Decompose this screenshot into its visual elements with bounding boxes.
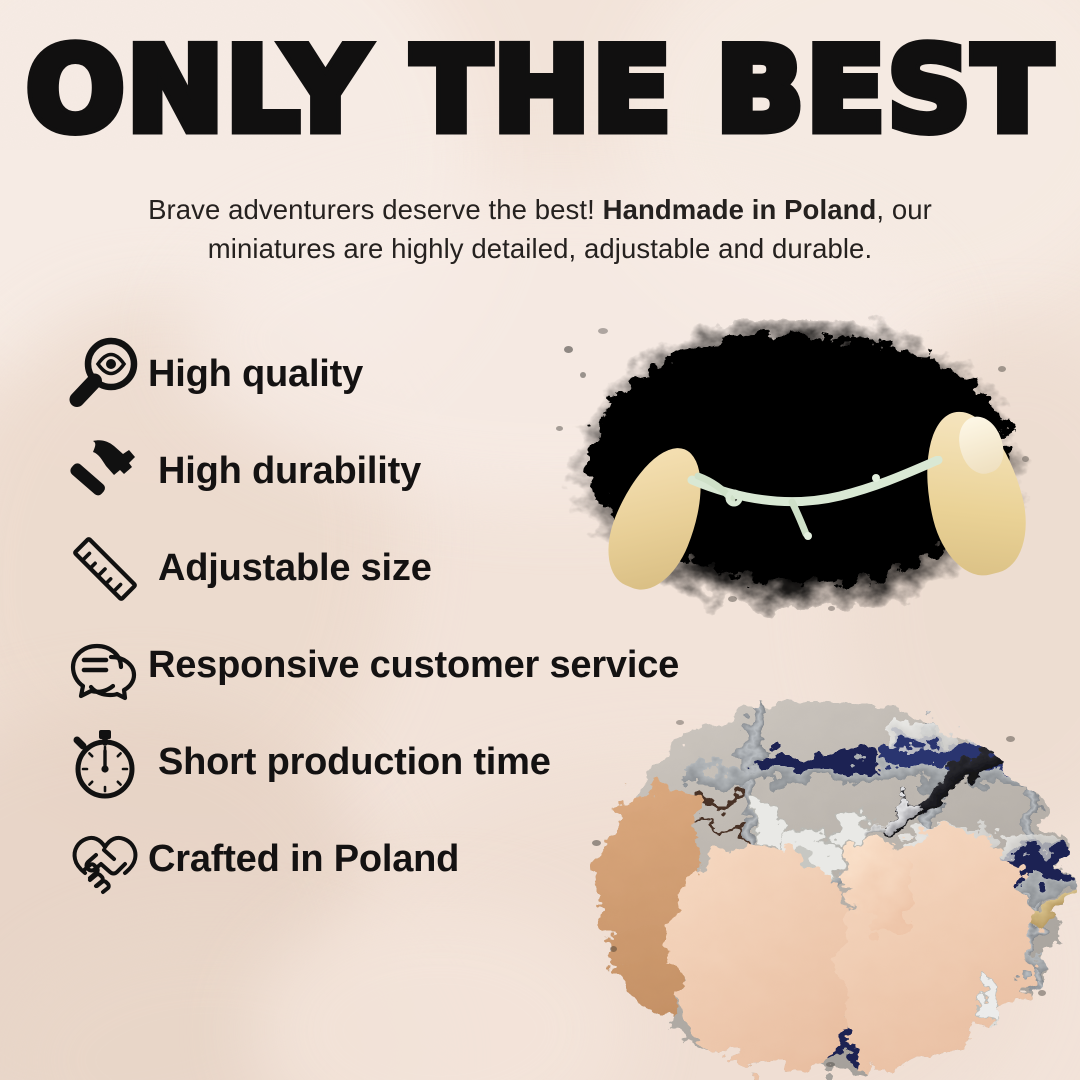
subtitle-lead: Brave adventurers deserve the best! xyxy=(148,194,603,225)
hammer-icon xyxy=(62,429,148,515)
handshake-heart-icon xyxy=(62,817,148,903)
flexible-part xyxy=(680,456,960,546)
feature-label: Responsive customer service xyxy=(148,644,679,687)
feature-label: High quality xyxy=(148,353,363,396)
feature-label: Adjustable size xyxy=(158,547,432,590)
promo-graphic: ONLY THE BEST Brave adventurers deserve … xyxy=(0,0,1080,1080)
flexible-miniature-photo xyxy=(528,306,1068,626)
page-title: ONLY THE BEST xyxy=(0,34,1080,148)
small-miniature xyxy=(972,980,1012,1036)
subtitle: Brave adventurers deserve the best! Hand… xyxy=(90,190,990,268)
magnifier-eye-icon xyxy=(62,332,148,418)
feature-label: Crafted in Poland xyxy=(148,838,459,881)
feature-label: Short production time xyxy=(158,741,551,784)
speech-bubbles-icon xyxy=(62,623,148,709)
workshop-crafting-photo xyxy=(576,690,1080,1080)
stopwatch-icon xyxy=(62,720,148,806)
subtitle-emphasis: Handmade in Poland xyxy=(603,194,877,225)
ruler-icon xyxy=(62,526,148,612)
feature-label: High durability xyxy=(158,450,421,493)
workshop-scene xyxy=(596,702,1066,1074)
